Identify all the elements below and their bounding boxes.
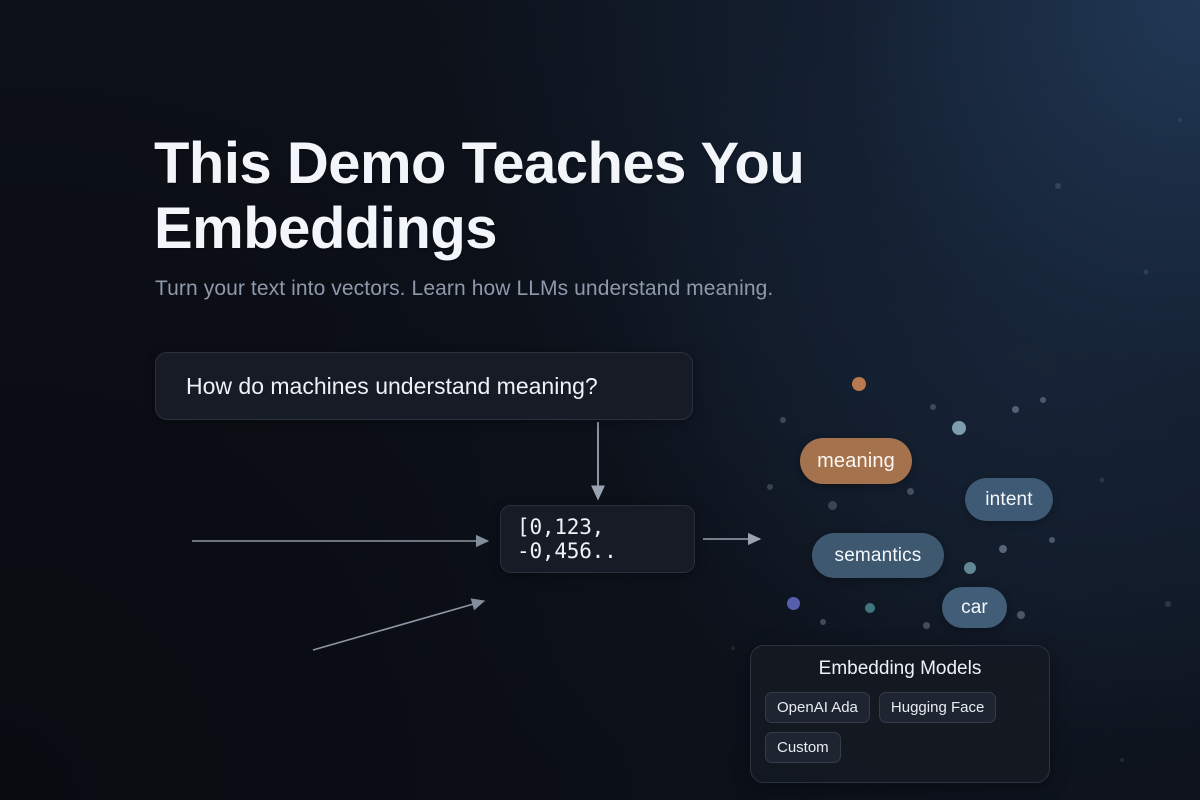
vector-output-box[interactable]: [0,123, -0,456.. <box>500 505 695 573</box>
embedding-point-dot <box>952 421 966 435</box>
embedding-point-dot <box>930 404 936 410</box>
page-title: This Demo Teaches You Embeddings <box>154 131 914 262</box>
embedding-models-button-group: OpenAI AdaHugging FaceCustom <box>765 692 1035 763</box>
embedding-point-dot <box>865 603 875 613</box>
word-pill-label: intent <box>985 489 1032 511</box>
app-canvas: This Demo Teaches You Embeddings Turn yo… <box>0 0 1200 800</box>
word-pill-label: semantics <box>835 545 922 567</box>
word-pill-label: meaning <box>817 450 895 473</box>
embedding-point-dot <box>820 619 826 625</box>
model-button-openai-ada[interactable]: OpenAI Ada <box>765 692 870 723</box>
embedding-point-dot <box>923 622 930 629</box>
embedding-point-dot <box>999 545 1007 553</box>
embedding-point-dot <box>1012 406 1019 413</box>
model-button-hugging-face[interactable]: Hugging Face <box>879 692 996 723</box>
page-subtitle: Turn your text into vectors. Learn how L… <box>155 277 773 301</box>
embedding-point-dot <box>767 484 773 490</box>
embedding-point-dot <box>1040 397 1046 403</box>
embedding-models-panel: Embedding Models OpenAI AdaHugging FaceC… <box>750 645 1050 783</box>
word-pill-semantics[interactable]: semantics <box>812 533 944 578</box>
embedding-point-dot <box>852 377 866 391</box>
word-pill-intent[interactable]: intent <box>965 478 1053 521</box>
word-pill-meaning[interactable]: meaning <box>800 438 912 484</box>
embedding-models-title: Embedding Models <box>765 658 1035 680</box>
text-input-value: How do machines understand meaning? <box>186 373 598 400</box>
vector-value: [0,123, -0,456.. <box>517 515 694 563</box>
embedding-point-dot <box>828 501 837 510</box>
embedding-point-dot <box>1017 611 1025 619</box>
embedding-point-dot <box>907 488 914 495</box>
text-input-box[interactable]: How do machines understand meaning? <box>155 352 693 420</box>
embedding-point-dot <box>787 597 800 610</box>
embedding-point-dot <box>964 562 976 574</box>
arrow-diagonal-up-right <box>313 601 484 650</box>
embedding-space-cloud: meaningintentsemanticscar <box>760 365 1060 645</box>
embedding-point-dot <box>780 417 786 423</box>
embedding-point-dot <box>1049 537 1055 543</box>
word-pill-car[interactable]: car <box>942 587 1007 628</box>
word-pill-label: car <box>961 597 988 619</box>
model-button-custom[interactable]: Custom <box>765 732 841 763</box>
